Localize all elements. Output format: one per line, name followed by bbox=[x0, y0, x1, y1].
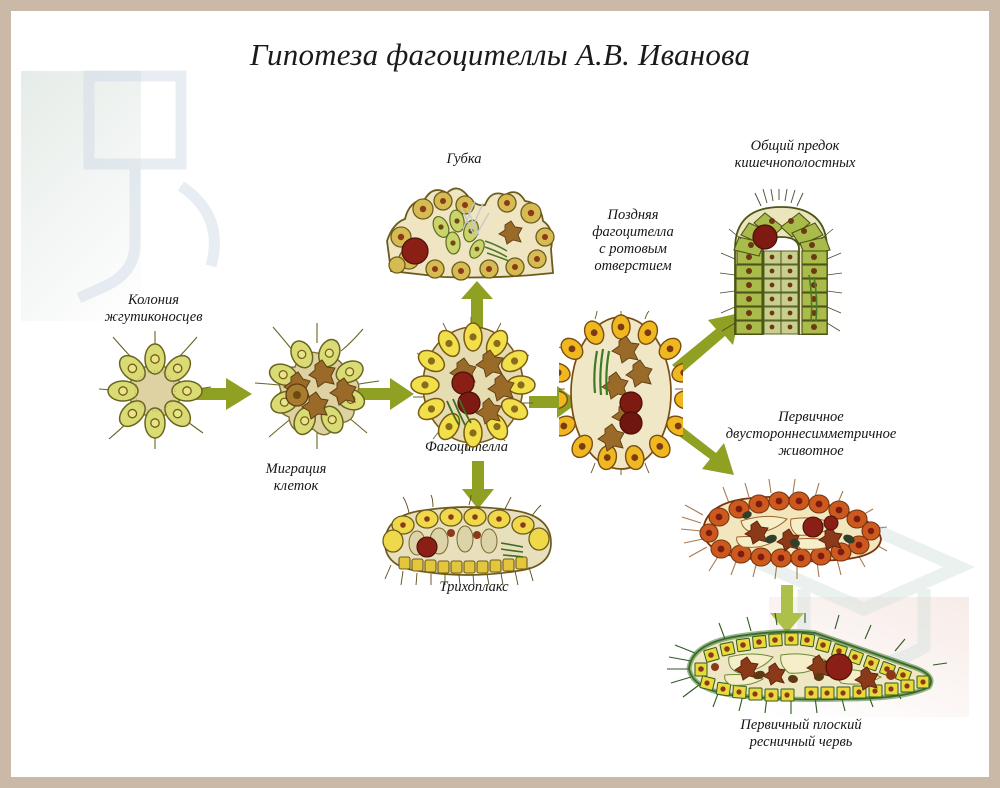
label-colony: Колония жгутиконосцев bbox=[71, 292, 236, 326]
figure-trichoplax bbox=[373, 495, 563, 585]
sponge-osculum bbox=[402, 238, 428, 264]
slide-canvas: Гипотеза фагоцителлы А.В. Иванова Колони… bbox=[0, 0, 1000, 788]
label-coelenterate-ancestor: Общий предок кишечнополостных bbox=[695, 138, 895, 172]
label-flatworm: Первичный плоский ресничный червь bbox=[676, 717, 926, 751]
apical-cilia bbox=[755, 189, 803, 206]
figure-primitive-flatworm bbox=[655, 613, 949, 717]
inner-cell-row bbox=[764, 251, 798, 334]
figure-sponge bbox=[379, 179, 565, 285]
page-title: Гипотеза фагоцителлы А.В. Иванова bbox=[11, 37, 989, 73]
figure-bilateral-animal bbox=[679, 479, 895, 591]
figure-phagocytella bbox=[409, 317, 541, 453]
label-migration: Миграция клеток bbox=[226, 461, 366, 495]
label-late-phagocytella: Поздняя фагоцителла с ротовым отверстием bbox=[563, 207, 703, 275]
label-sponge: Губка bbox=[409, 151, 519, 168]
figure-late-phagocytella bbox=[559, 311, 683, 475]
figure-cell-migration bbox=[251, 321, 383, 453]
figure-coelenterate-ancestor bbox=[705, 189, 857, 335]
coelenterate-mouth bbox=[753, 225, 777, 249]
watermark-green bbox=[21, 71, 141, 321]
figure-flagellate-colony bbox=[93, 329, 217, 453]
flatworm-pharynx bbox=[826, 654, 852, 680]
